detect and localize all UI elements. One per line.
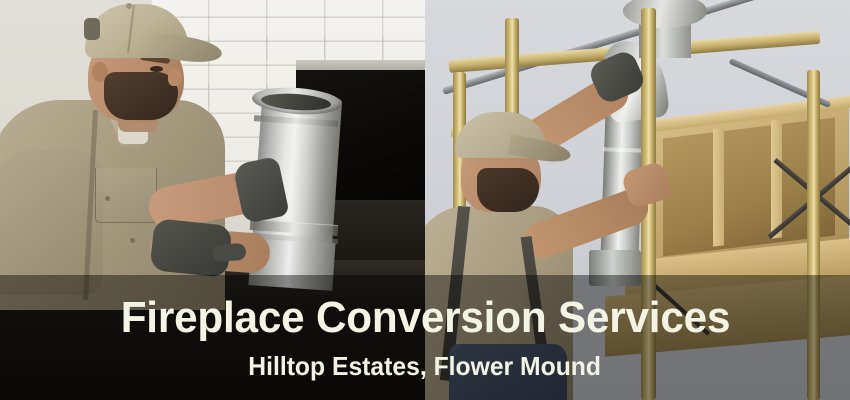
shirt-pocket <box>95 168 157 223</box>
worker-beard <box>104 72 178 120</box>
cap-button <box>126 3 132 9</box>
framing-stud <box>771 119 782 238</box>
service-banner: Fireplace Conversion Services Hilltop Es… <box>0 0 850 400</box>
shirt-button <box>105 196 110 201</box>
banner-title: Fireplace Conversion Services <box>120 295 730 341</box>
cap-side-tab <box>84 18 100 40</box>
shirt-button <box>130 238 135 243</box>
worker-eye <box>150 66 163 72</box>
worker-beard <box>477 168 539 212</box>
caption-block: Fireplace Conversion Services Hilltop Es… <box>0 275 850 400</box>
worker-nose <box>168 68 182 86</box>
glove-thumb <box>211 243 246 262</box>
banner-subtitle: Hilltop Estates, Flower Mound <box>249 352 602 381</box>
framing-stud <box>713 127 724 246</box>
